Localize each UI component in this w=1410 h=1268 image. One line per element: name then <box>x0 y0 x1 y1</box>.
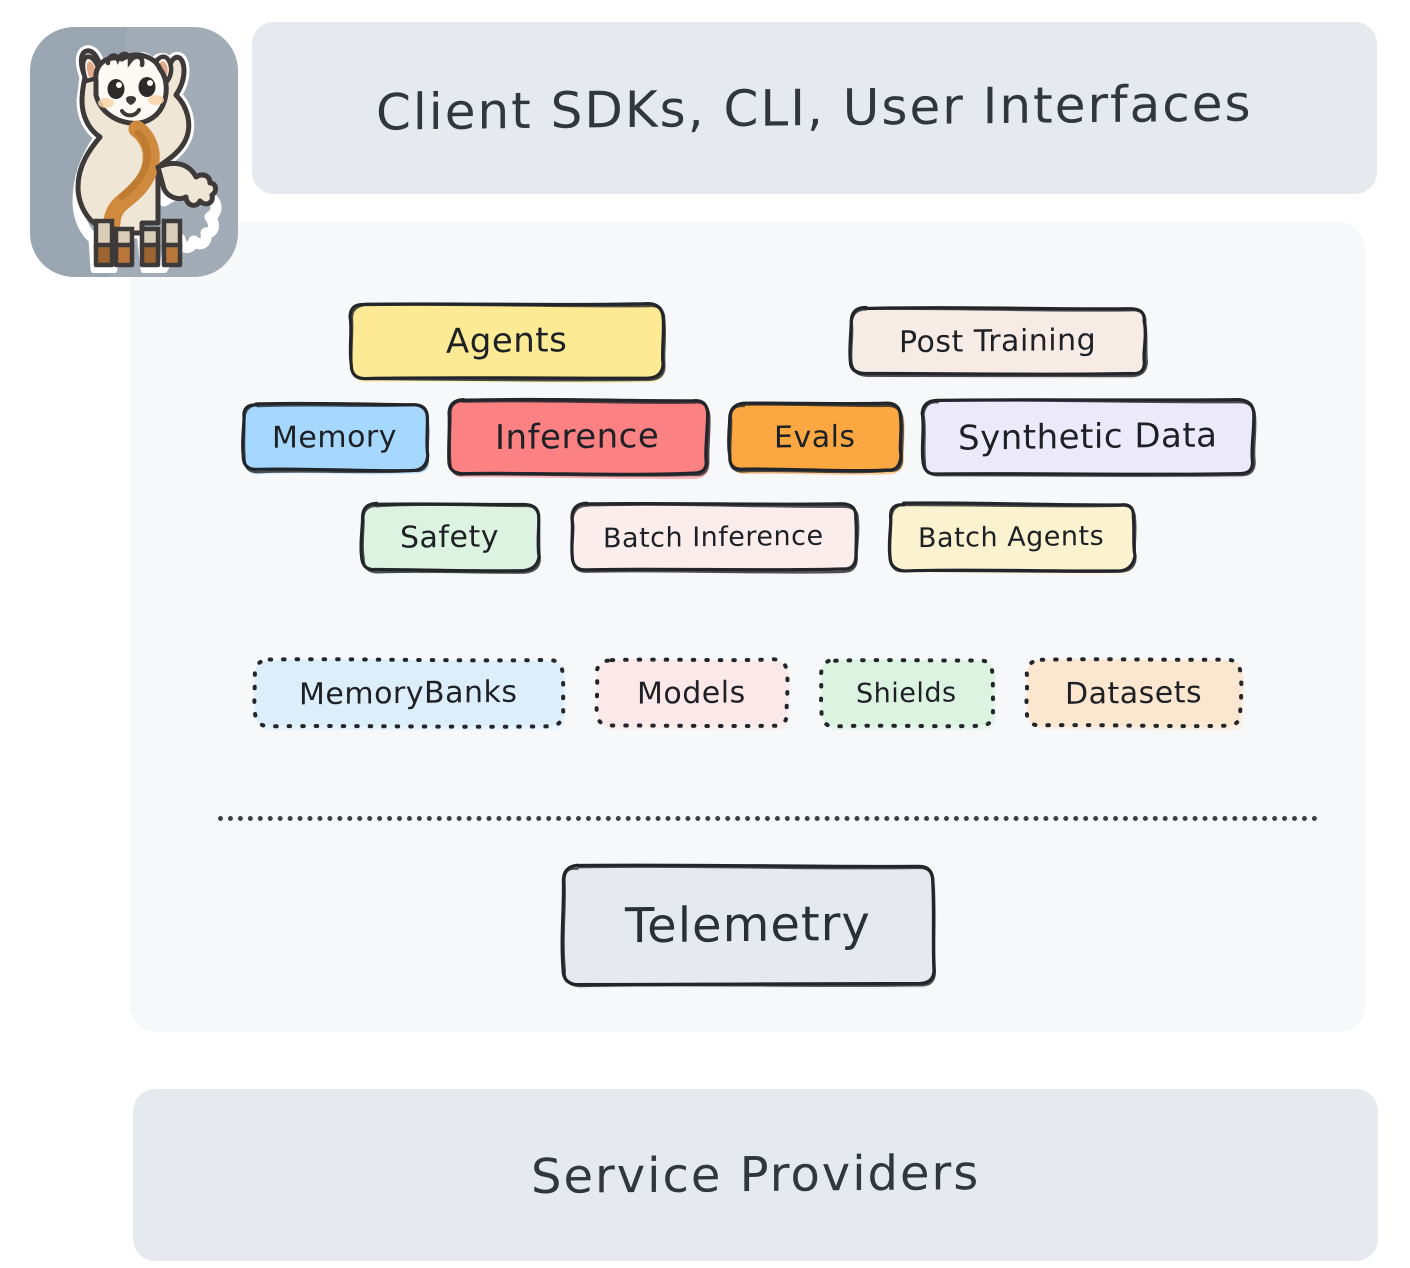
api-box-shields[interactable]: Shields <box>821 660 993 726</box>
telemetry-box[interactable]: Telemetry <box>563 866 933 984</box>
diagram-canvas: Client SDKs, CLI, User Interfaces <box>0 0 1410 1268</box>
api-box-label: Batch Inference <box>603 520 824 554</box>
api-box-agents[interactable]: Agents <box>351 304 663 378</box>
api-box-label: Agents <box>446 320 567 361</box>
llama-logo-tile <box>30 27 238 277</box>
apis-panel: AgentsPost Training MemoryInferenceEvals… <box>130 222 1365 1032</box>
api-box-label: Safety <box>400 519 499 555</box>
api-box-label: Shields <box>856 677 957 709</box>
api-box-post-training[interactable]: Post Training <box>851 308 1145 374</box>
api-box-label: Evals <box>774 419 856 455</box>
api-box-label: Inference <box>495 416 659 458</box>
api-row-primary-top: AgentsPost Training <box>130 304 1365 378</box>
api-box-label: Post Training <box>899 322 1096 359</box>
telemetry-label: Telemetry <box>625 896 871 955</box>
api-box-label: Models <box>637 675 746 711</box>
api-box-batch-agents[interactable]: Batch Agents <box>890 504 1134 570</box>
api-box-memory[interactable]: Memory <box>243 404 427 470</box>
api-row-resources: MemoryBanksModelsShieldsDatasets <box>130 660 1365 726</box>
api-box-label: Synthetic Data <box>958 415 1218 458</box>
client-interfaces-bar: Client SDKs, CLI, User Interfaces <box>252 22 1377 194</box>
api-row-primary-bottom: SafetyBatch InferenceBatch Agents <box>130 504 1365 570</box>
footer-title: Service Providers <box>531 1145 980 1205</box>
api-box-label: Memory <box>272 419 397 456</box>
llama-logo-icon <box>38 33 233 273</box>
api-box-evals[interactable]: Evals <box>729 404 901 470</box>
api-box-synthetic-data[interactable]: Synthetic Data <box>923 400 1253 474</box>
header-title: Client SDKs, CLI, User Interfaces <box>376 74 1253 141</box>
telemetry-row: Telemetry <box>130 866 1365 984</box>
api-box-label: Batch Agents <box>918 520 1104 553</box>
api-box-datasets[interactable]: Datasets <box>1027 660 1241 726</box>
api-box-batch-inference[interactable]: Batch Inference <box>572 504 856 570</box>
api-row-primary-middle: MemoryInferenceEvalsSynthetic Data <box>130 400 1365 474</box>
api-box-label: MemoryBanks <box>299 674 518 712</box>
service-providers-bar: Service Providers <box>133 1089 1378 1261</box>
api-box-safety[interactable]: Safety <box>362 504 538 570</box>
llama-head <box>96 55 166 123</box>
api-box-memorybanks[interactable]: MemoryBanks <box>255 660 563 726</box>
dotted-divider <box>218 816 1318 821</box>
api-box-label: Datasets <box>1065 675 1202 712</box>
api-box-inference[interactable]: Inference <box>449 400 707 474</box>
api-box-models[interactable]: Models <box>597 660 787 726</box>
